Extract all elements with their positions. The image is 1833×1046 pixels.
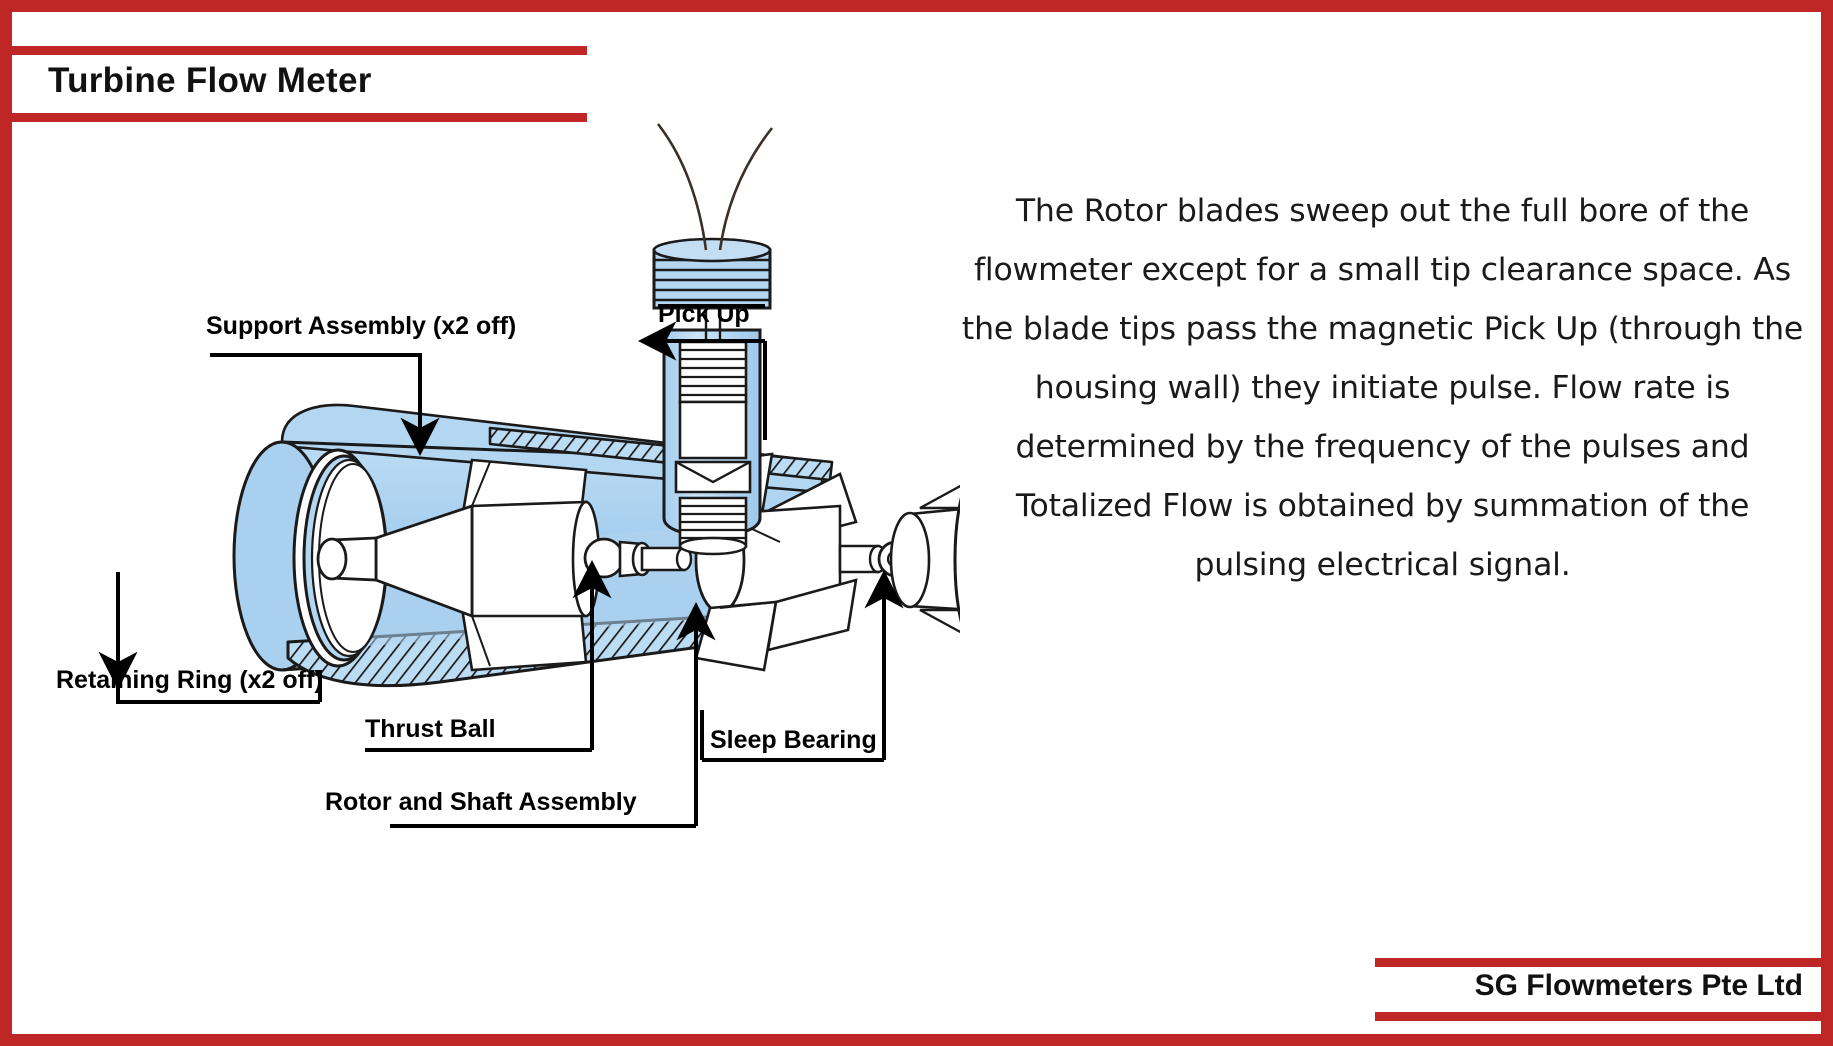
callout-label-sleep-bearing: Sleep Bearing [710,726,877,754]
company-name: SG Flowmeters Pte Ltd [1383,963,1803,1009]
pickup-threads-lower [680,498,746,554]
pickup-coil [680,342,746,402]
title-rule-top [12,46,587,55]
frame-border-top [0,0,1833,12]
frame-border-right [1821,0,1833,1046]
support-assembly-outlet [891,484,960,634]
frame-border-bottom [0,1034,1833,1046]
turbine-flow-meter-diagram: Support Assembly (x2 off) Pick Up Retain… [20,110,960,990]
footer-rule-bottom [1375,1012,1821,1021]
pickup-wires [658,124,772,250]
poster-page: Turbine Flow Meter The Rotor blades swee… [0,0,1833,1046]
frame-border-left [0,0,12,1046]
page-title: Turbine Flow Meter [48,55,608,107]
description-paragraph: The Rotor blades sweep out the full bore… [960,182,1805,595]
pickup-magnet [680,402,746,458]
callout-label-rotor-shaft: Rotor and Shaft Assembly [325,788,637,816]
callout-label-retaining-ring: Retaining Ring (x2 off) [56,666,323,694]
pickup-threads-upper [654,239,770,308]
callout-label-support-assembly: Support Assembly (x2 off) [206,312,516,340]
callout-label-thrust-ball: Thrust Ball [365,715,496,743]
